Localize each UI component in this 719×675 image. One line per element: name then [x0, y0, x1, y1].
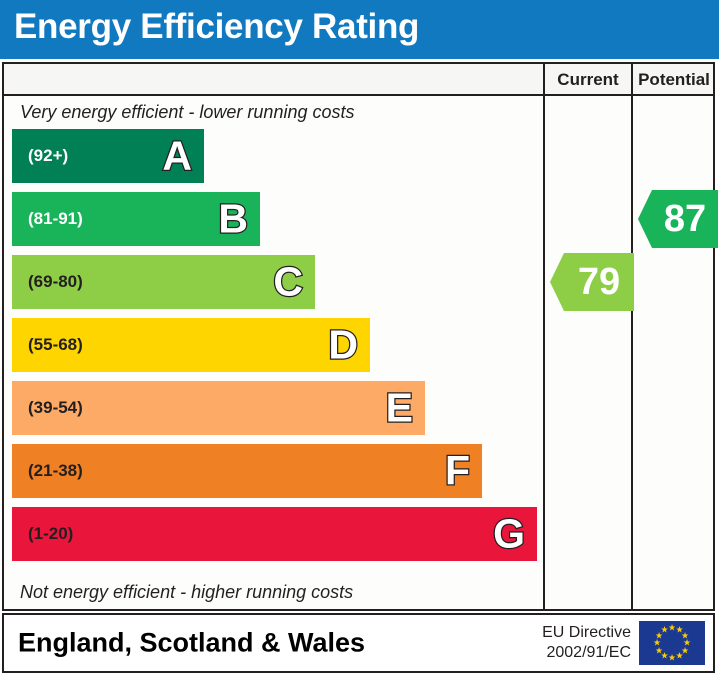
band-b: (81-91)B — [12, 192, 260, 246]
eu-directive-line1: EU Directive — [542, 623, 631, 643]
rating-arrow-current: 79 — [550, 253, 634, 311]
column-divider-2 — [631, 64, 633, 609]
eu-star-icon: ★ — [660, 626, 668, 635]
band-g: (1-20)G — [12, 507, 537, 561]
band-letter-e: E — [386, 388, 413, 429]
band-f: (21-38)F — [12, 444, 482, 498]
band-range-d: (55-68) — [28, 335, 83, 355]
rating-arrow-potential: 87 — [638, 190, 718, 248]
eu-flag-icon: ★★★★★★★★★★★★ — [639, 621, 705, 665]
eu-directive-line2: 2002/91/EC — [542, 643, 631, 663]
band-letter-d: D — [328, 325, 358, 366]
band-letter-b: B — [218, 199, 248, 240]
caption-inefficient: Not energy efficient - higher running co… — [4, 576, 543, 609]
caption-efficient: Very energy efficient - lower running co… — [4, 96, 543, 129]
band-letter-g: G — [493, 514, 525, 555]
band-range-b: (81-91) — [28, 209, 83, 229]
band-range-a: (92+) — [28, 146, 68, 166]
footer-region-label: England, Scotland & Wales — [18, 628, 365, 659]
rating-value-potential: 87 — [652, 200, 718, 238]
column-divider-1 — [543, 64, 545, 609]
eu-directive-label: EU Directive 2002/91/EC — [542, 623, 631, 663]
band-range-e: (39-54) — [28, 398, 83, 418]
page-title: Energy Efficiency Rating — [14, 7, 419, 47]
epc-certificate: Energy Efficiency Rating Current Potenti… — [0, 0, 719, 675]
rating-value-current: 79 — [564, 263, 634, 301]
band-letter-f: F — [445, 451, 470, 492]
rating-table: Current Potential Very energy efficient … — [2, 62, 715, 611]
band-range-c: (69-80) — [28, 272, 83, 292]
band-c: (69-80)C — [12, 255, 315, 309]
band-a: (92+)A — [12, 129, 204, 183]
column-header-potential: Potential — [633, 70, 715, 90]
band-list: (92+)A(81-91)B(69-80)C(55-68)D(39-54)E(2… — [4, 129, 543, 576]
table-header-row: Current Potential — [4, 64, 713, 96]
title-bar: Energy Efficiency Rating — [0, 0, 719, 59]
band-letter-c: C — [273, 262, 303, 303]
eu-star-icon: ★ — [675, 651, 683, 660]
band-d: (55-68)D — [12, 318, 370, 372]
eu-star-icon: ★ — [668, 654, 676, 663]
footer: England, Scotland & Wales EU Directive 2… — [2, 613, 715, 673]
band-letter-a: A — [162, 136, 192, 177]
column-header-current: Current — [545, 70, 631, 90]
band-range-g: (1-20) — [28, 524, 73, 544]
band-e: (39-54)E — [12, 381, 425, 435]
band-range-f: (21-38) — [28, 461, 83, 481]
